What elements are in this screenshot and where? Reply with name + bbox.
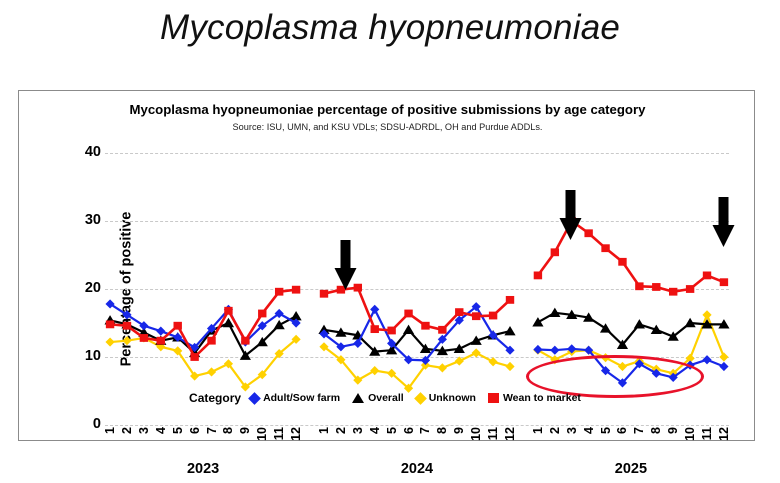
data-point-square [489, 312, 497, 320]
data-point-square [123, 322, 131, 330]
x-tick-23: 12 [503, 427, 517, 441]
x-tick-8: 9 [238, 427, 252, 434]
legend-item-overall[interactable]: Overall [352, 392, 404, 404]
data-point-triangle [504, 326, 515, 335]
x-tick-0: 1 [103, 427, 117, 434]
series-line-segment [324, 347, 510, 388]
slide-title: Mycoplasma hyopneumoniae [0, 8, 780, 48]
x-tick-29: 6 [615, 427, 629, 434]
data-point-diamond [472, 348, 481, 357]
x-axis-year-labels: 202320242025 [105, 461, 729, 483]
x-tick-17: 6 [402, 427, 416, 434]
legend-item-wean-to-market[interactable]: Wean to market [488, 392, 581, 404]
data-point-diamond [488, 357, 497, 366]
y-tick-40: 40 [41, 144, 101, 160]
x-tick-11: 12 [289, 427, 303, 441]
data-point-square [404, 310, 412, 318]
legend-marker-triangle-icon [352, 393, 364, 403]
data-point-square [140, 334, 148, 342]
data-point-diamond [370, 305, 379, 314]
data-point-triangle [532, 317, 543, 326]
x-tick-14: 3 [351, 427, 365, 434]
legend-label: Unknown [429, 392, 476, 404]
gridline-0 [105, 425, 729, 426]
x-tick-3: 4 [154, 427, 168, 434]
data-point-square [174, 322, 182, 330]
x-tick-5: 6 [188, 427, 202, 434]
data-point-diamond [550, 346, 559, 355]
data-point-diamond [719, 362, 728, 371]
year-label-2025: 2025 [615, 461, 647, 477]
x-tick-20: 9 [452, 427, 466, 434]
x-tick-32: 9 [666, 427, 680, 434]
chart-source-note: Source: ISU, UMN, and KSU VDLs; SDSU-ADR… [19, 122, 756, 132]
arrow-2023-month8 [334, 240, 357, 297]
y-tick-0: 0 [41, 416, 101, 432]
data-point-square [207, 337, 215, 345]
data-point-square [652, 283, 660, 291]
x-tick-2: 3 [137, 427, 151, 434]
data-point-square [584, 229, 592, 237]
data-point-triangle [274, 320, 285, 329]
x-tick-25: 2 [548, 427, 562, 434]
data-point-diamond [105, 337, 114, 346]
y-tick-20: 20 [41, 280, 101, 296]
legend-marker-diamond-icon [414, 392, 427, 405]
x-tick-31: 8 [649, 427, 663, 434]
data-point-square [618, 258, 626, 266]
data-point-diamond [719, 352, 728, 361]
data-point-square [534, 272, 542, 280]
slide-root: Mycoplasma hyopneumoniae Mycoplasma hyop… [0, 0, 780, 459]
series-line-segment [324, 330, 510, 352]
legend-label: Overall [368, 392, 404, 404]
x-tick-4: 5 [171, 427, 185, 434]
data-point-square [703, 272, 711, 280]
data-point-square [421, 322, 429, 330]
y-tick-30: 30 [41, 212, 101, 228]
data-point-square [224, 307, 232, 315]
legend-title: Category [189, 391, 241, 405]
data-point-square [506, 296, 514, 304]
x-tick-19: 8 [435, 427, 449, 434]
data-point-diamond [207, 367, 216, 376]
series-line-segment [538, 313, 724, 345]
data-point-triangle [403, 325, 414, 334]
data-point-diamond [505, 362, 514, 371]
year-label-2024: 2024 [401, 461, 433, 477]
data-point-square [320, 290, 328, 298]
x-tick-26: 3 [565, 427, 579, 434]
data-point-square [241, 337, 249, 345]
data-point-diamond [702, 310, 711, 319]
series-line-segment [110, 290, 296, 357]
x-tick-18: 7 [418, 427, 432, 434]
data-point-square [371, 325, 379, 333]
x-tick-22: 11 [486, 427, 500, 440]
data-point-triangle [634, 319, 645, 328]
data-point-square [258, 310, 266, 318]
year-label-2023: 2023 [187, 461, 219, 477]
data-point-square [669, 288, 677, 296]
x-axis-ticks: 1234567891011121234567891011121234567891… [105, 427, 729, 461]
chart-panel: Mycoplasma hyopneumoniae percentage of p… [18, 90, 755, 441]
plot-area: Percentage of positive 010203040 [105, 153, 729, 425]
series-line-segment [110, 338, 296, 387]
x-tick-13: 2 [334, 427, 348, 434]
legend-label: Wean to market [503, 392, 581, 404]
x-tick-24: 1 [531, 427, 545, 434]
data-point-square [720, 278, 728, 286]
data-point-square [275, 288, 283, 296]
data-point-square [472, 312, 480, 320]
x-tick-7: 8 [221, 427, 235, 434]
legend-marker-diamond-icon [248, 392, 261, 405]
x-tick-1: 2 [120, 427, 134, 434]
data-point-square [635, 282, 643, 290]
data-point-square [601, 244, 609, 252]
data-point-diamond [438, 363, 447, 372]
data-point-diamond [156, 327, 165, 336]
chart-title: Mycoplasma hyopneumoniae percentage of p… [19, 102, 756, 117]
data-point-diamond [455, 356, 464, 365]
data-point-square [106, 320, 114, 328]
y-tick-10: 10 [41, 348, 101, 364]
x-tick-28: 5 [599, 427, 613, 434]
legend-item-unknown[interactable]: Unknown [416, 392, 476, 404]
chart-legend: Category Adult/Sow farmOverallUnknownWea… [19, 391, 756, 405]
x-tick-10: 11 [272, 427, 286, 440]
legend-item-adult-sow-farm[interactable]: Adult/Sow farm [250, 392, 340, 404]
arrow-2025-month7 [712, 197, 735, 254]
x-tick-6: 7 [205, 427, 219, 434]
x-tick-12: 1 [317, 427, 331, 434]
arrow-2024-month9 [559, 190, 582, 247]
legend-label: Adult/Sow farm [263, 392, 340, 404]
legend-marker-square-icon [488, 393, 499, 403]
x-tick-16: 5 [385, 427, 399, 434]
data-point-diamond [353, 339, 362, 348]
x-tick-34: 11 [700, 427, 714, 440]
x-tick-30: 7 [632, 427, 646, 434]
data-point-square [387, 327, 395, 335]
x-tick-21: 10 [469, 427, 483, 441]
data-point-square [438, 326, 446, 334]
data-point-square [686, 285, 694, 293]
x-tick-33: 10 [683, 427, 697, 441]
data-point-diamond [702, 355, 711, 364]
data-point-diamond [370, 366, 379, 375]
data-point-square [551, 248, 559, 256]
x-tick-15: 4 [368, 427, 382, 434]
data-point-square [157, 337, 165, 345]
data-point-square [455, 308, 463, 316]
data-point-diamond [122, 336, 131, 345]
data-point-square [292, 286, 300, 294]
x-tick-35: 12 [717, 427, 731, 441]
data-point-square [190, 353, 198, 361]
x-tick-27: 4 [582, 427, 596, 434]
x-tick-9: 10 [255, 427, 269, 441]
